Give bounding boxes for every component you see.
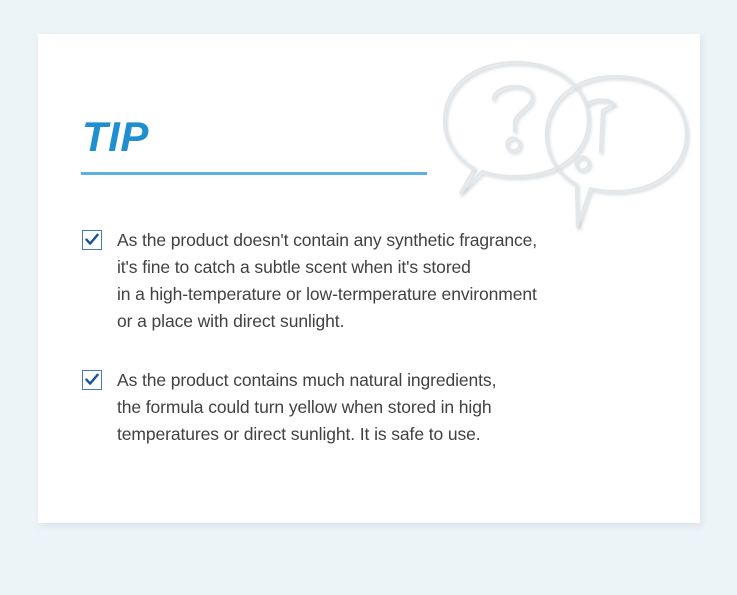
list-item: As the product contains much natural ing… [82,367,682,448]
list-item: As the product doesn't contain any synth… [82,227,682,335]
page-root: TIP As the product doesn't contain any s… [0,0,737,595]
question-bubble-shape [444,62,588,193]
tip-card: TIP As the product doesn't contain any s… [38,34,700,523]
title-underline [81,172,427,175]
exclamation-bubble-shape [546,76,686,227]
list-item-text: As the product contains much natural ing… [117,367,496,448]
checkbox-checked[interactable] [82,230,102,250]
checkbox-checked[interactable] [82,370,102,390]
tip-list: As the product doesn't contain any synth… [82,227,682,448]
list-item-text: As the product doesn't contain any synth… [117,227,537,335]
page-title: TIP [82,116,149,158]
speech-bubbles-decoration [430,52,700,237]
